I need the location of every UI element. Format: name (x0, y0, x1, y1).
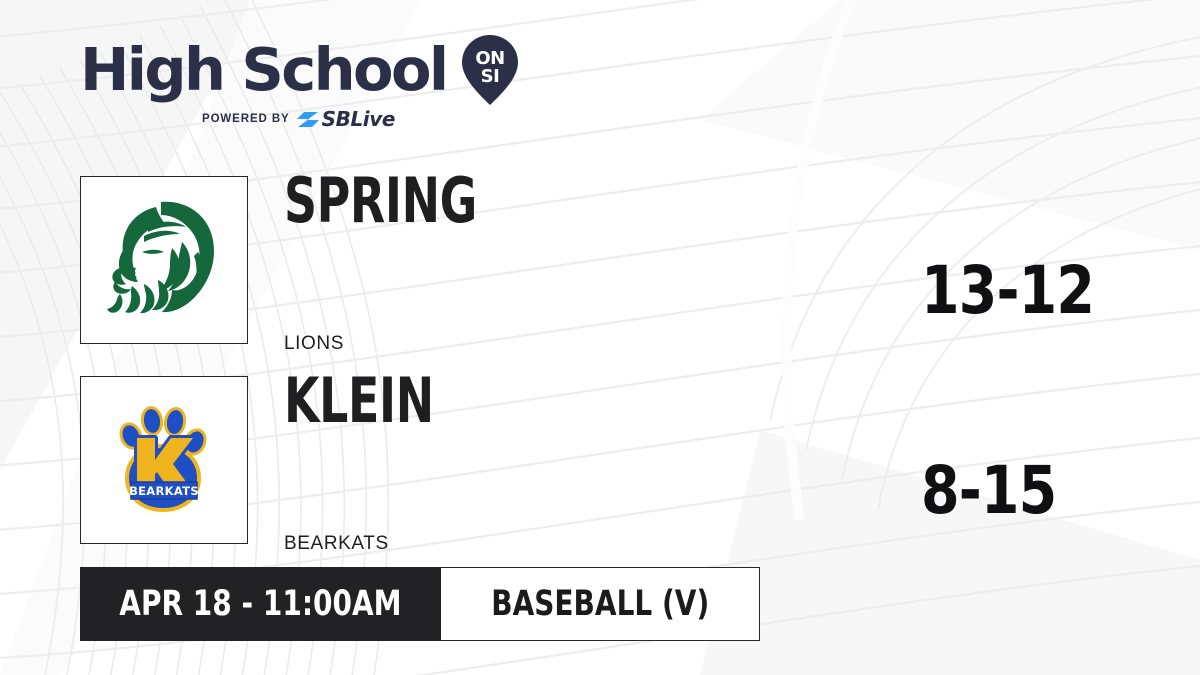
high-school-wordmark: High School (80, 40, 447, 99)
away-team-text: SPRING LIONS (284, 176, 714, 344)
home-team-logo-box: BEARKATS (80, 376, 248, 544)
sblive-wordmark: SBLive (322, 109, 395, 129)
pin-si-text: SI (480, 66, 499, 87)
event-datetime-text: APR 18 - 11:00AM (119, 584, 401, 624)
away-team-record: 13-12 (921, 258, 1094, 324)
event-sport-block[interactable]: BASEBALL (V) (441, 567, 760, 641)
home-team-name: KLEIN (284, 370, 434, 432)
away-team-logo-box (80, 176, 248, 344)
away-team-mascot: LIONS (284, 333, 344, 355)
spring-lions-logo (98, 194, 230, 326)
on-si-pin-icon: ON SI (461, 34, 519, 106)
sblive-bolt-icon (297, 111, 319, 128)
event-sport-text: BASEBALL (V) (491, 584, 709, 624)
home-team-mascot: BEARKATS (284, 533, 389, 555)
team-row-home[interactable]: BEARKATS KLEIN BEARKATS (80, 376, 714, 544)
bearkats-wordmark: BEARKATS (129, 484, 199, 498)
home-team-text: KLEIN BEARKATS (284, 376, 714, 544)
powered-by-row: POWERED BY SBLive (202, 109, 510, 129)
home-team-record: 8-15 (921, 458, 1056, 524)
away-team-name: SPRING (284, 170, 477, 232)
site-branding: High School ON SI POWERED BY SBLive (80, 36, 510, 129)
event-datetime-block[interactable]: APR 18 - 11:00AM (80, 567, 441, 641)
powered-by-label: POWERED BY (202, 113, 290, 125)
sblive-logo[interactable]: SBLive (297, 109, 395, 129)
klein-bearkats-paw-logo: BEARKATS (109, 400, 219, 520)
brand-logo-row[interactable]: High School ON SI (80, 36, 510, 102)
team-row-away[interactable]: SPRING LIONS (80, 176, 714, 344)
event-info-bar: APR 18 - 11:00AM BASEBALL (V) (80, 567, 760, 641)
